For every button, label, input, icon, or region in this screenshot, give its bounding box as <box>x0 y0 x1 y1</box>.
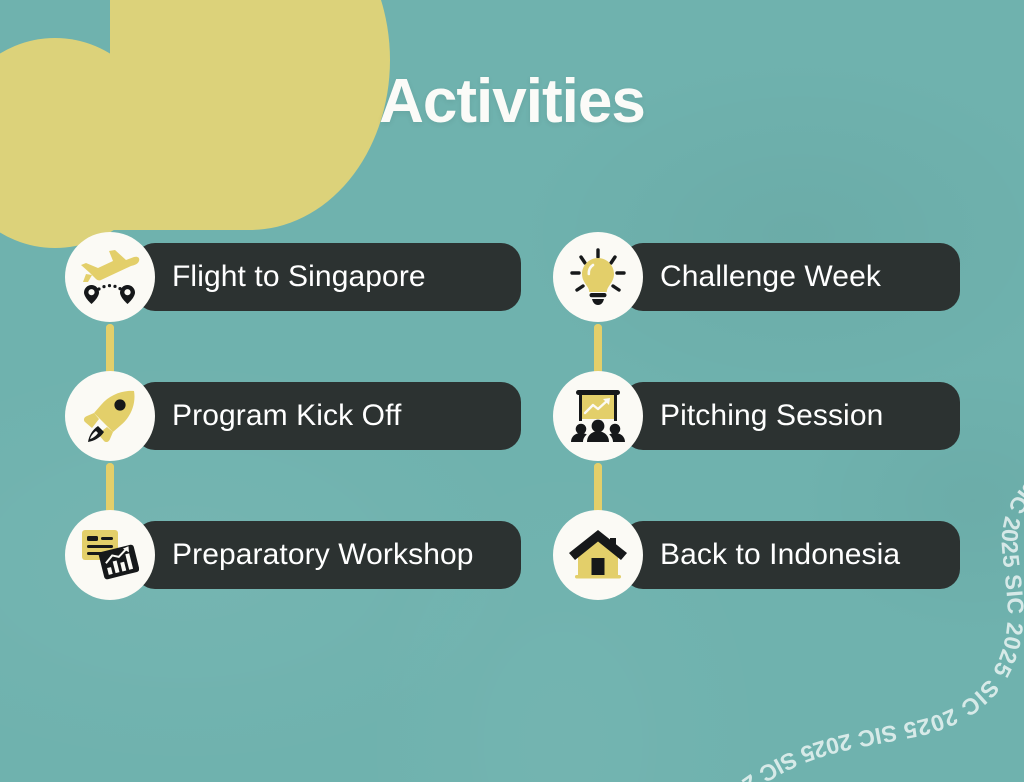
activity-label: Preparatory Workshop <box>135 538 474 572</box>
activity-pill[interactable]: Back to Indonesia <box>623 521 960 589</box>
activity-item[interactable]: Preparatory Workshop <box>65 510 525 602</box>
home-icon <box>553 510 643 600</box>
airplane-route-icon <box>65 232 155 322</box>
activity-item[interactable]: Challenge Week <box>553 232 963 371</box>
activity-label: Pitching Session <box>623 399 883 433</box>
lightbulb-icon <box>553 232 643 322</box>
activity-item[interactable]: Back to Indonesia <box>553 510 963 602</box>
document-chart-icon <box>65 510 155 600</box>
activity-pill[interactable]: Challenge Week <box>623 243 960 311</box>
activity-pill[interactable]: Flight to Singapore <box>135 243 521 311</box>
activity-label: Flight to Singapore <box>135 260 426 294</box>
activity-pill[interactable]: Pitching Session <box>623 382 960 450</box>
activity-item[interactable]: Flight to Singapore <box>65 232 525 371</box>
activity-item[interactable]: Program Kick Off <box>65 371 525 510</box>
activity-pill[interactable]: Preparatory Workshop <box>135 521 521 589</box>
activity-label: Challenge Week <box>623 260 881 294</box>
activity-label: Program Kick Off <box>135 399 401 433</box>
activity-label: Back to Indonesia <box>623 538 900 572</box>
dashed-connector <box>594 324 602 371</box>
presentation-audience-icon <box>553 371 643 461</box>
rocket-icon <box>65 371 155 461</box>
dashed-connector <box>594 463 602 510</box>
left-column: Flight to Singapore <box>65 232 525 602</box>
dashed-connector <box>106 463 114 510</box>
right-column: Challenge Week <box>553 232 963 602</box>
slide-canvas: Activities Flight to Singapore <box>0 0 1024 782</box>
activity-item[interactable]: Pitching Session <box>553 371 963 510</box>
activity-pill[interactable]: Program Kick Off <box>135 382 521 450</box>
page-title: Activities <box>0 66 1024 137</box>
dashed-connector <box>106 324 114 371</box>
